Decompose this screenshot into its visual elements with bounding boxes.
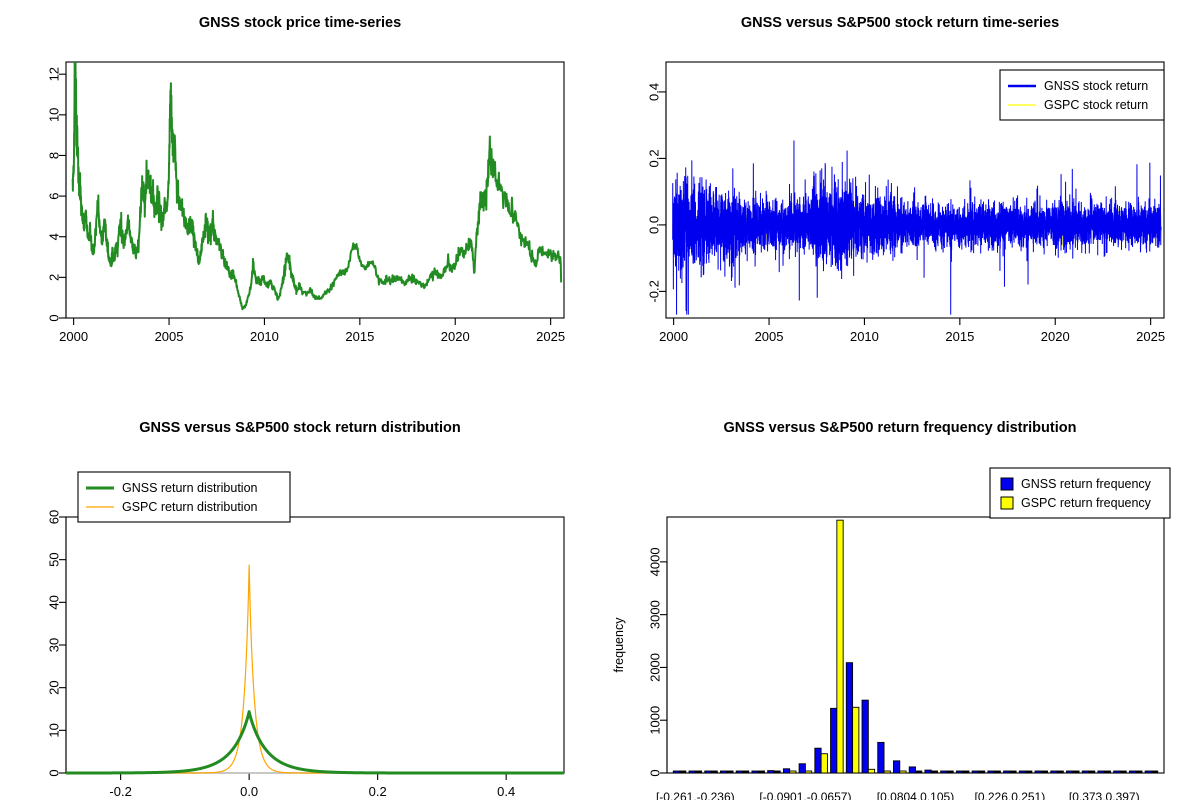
bar-gspc xyxy=(916,771,922,773)
bar-gnss xyxy=(1066,771,1072,773)
plot-box xyxy=(66,517,564,773)
y-tick-label: 0 xyxy=(648,769,663,776)
bar-gspc xyxy=(821,754,827,773)
plot-area-p1: 024681012200020052010201520202025 xyxy=(47,62,566,344)
bar-gspc xyxy=(1104,771,1110,773)
bar-gnss xyxy=(1004,771,1010,773)
x-tick-label: 2015 xyxy=(945,329,974,344)
y-tick-label: 4 xyxy=(47,233,62,240)
legend-box xyxy=(78,472,290,522)
chart-return-timeseries: GNSS versus S&P500 stock return time-ser… xyxy=(600,0,1200,400)
x-tick-label: 2025 xyxy=(536,329,565,344)
x-tick-label: 2010 xyxy=(850,329,879,344)
bar-gnss xyxy=(862,700,868,773)
chart-return-frequency: GNSS versus S&P500 return frequency dist… xyxy=(600,400,1200,800)
bar-gnss xyxy=(799,764,805,773)
legend-box xyxy=(990,468,1170,518)
y-tick-label: 0.0 xyxy=(647,216,662,234)
series-gnss-density xyxy=(66,712,564,773)
bar-gspc xyxy=(711,771,717,773)
bar-gnss xyxy=(972,771,978,773)
bar-gspc xyxy=(1073,771,1079,773)
y-tick-label: -0.2 xyxy=(647,280,662,302)
bar-gnss xyxy=(1051,771,1057,773)
bar-gspc xyxy=(900,771,906,773)
x-tick-label: 2020 xyxy=(441,329,470,344)
bar-gspc xyxy=(774,771,780,773)
bar-gspc xyxy=(853,707,859,773)
bar-gspc xyxy=(680,771,686,773)
bar-gnss xyxy=(893,761,899,773)
bar-gspc xyxy=(868,769,874,773)
y-tick-label: 1000 xyxy=(648,706,663,735)
y-tick-label: 0 xyxy=(47,314,62,321)
x-tick-label: 2010 xyxy=(250,329,279,344)
legend-swatch xyxy=(1001,478,1013,490)
x-tick-label: 2005 xyxy=(755,329,784,344)
y-tick-label: 20 xyxy=(47,680,62,694)
bar-gspc xyxy=(931,771,937,773)
bar-gspc xyxy=(963,771,969,773)
y-tick-label: 10 xyxy=(47,723,62,737)
plot-area-p2: -0.20.00.20.4200020052010201520202025GNS… xyxy=(647,62,1166,344)
panel-gnss-price-timeseries: GNSS stock price time-series 02468101220… xyxy=(0,0,600,400)
legend-label: GNSS stock return xyxy=(1044,79,1148,93)
bar-gnss xyxy=(815,748,821,773)
bar-gspc xyxy=(727,771,733,773)
bar-gspc xyxy=(1041,771,1047,773)
legend-label: GNSS return distribution xyxy=(122,481,258,495)
bar-gnss xyxy=(1082,771,1088,773)
figure-grid: GNSS stock price time-series 02468101220… xyxy=(0,0,1200,800)
y-tick-label: 2 xyxy=(47,274,62,281)
bar-gnss xyxy=(752,771,758,773)
chart-return-distribution: GNSS versus S&P500 stock return distribu… xyxy=(0,400,600,800)
plot-area-p3: 0102030405060-0.20.00.20.4GNSS return di… xyxy=(47,472,565,799)
x-tick-label: -0.2 xyxy=(109,784,131,799)
bar-gspc xyxy=(1136,771,1142,773)
bar-gnss xyxy=(689,771,695,773)
bar-gnss xyxy=(846,663,852,773)
y-tick-label: 10 xyxy=(47,108,62,122)
x-tick-label: 2025 xyxy=(1136,329,1165,344)
x-bin-label: [0.226,0.251) xyxy=(975,790,1046,800)
x-tick-label: 0.2 xyxy=(369,784,387,799)
bar-gnss xyxy=(941,771,947,773)
series-gnss-price xyxy=(73,63,561,309)
y-tick-label: 0 xyxy=(47,769,62,776)
bar-gspc xyxy=(994,771,1000,773)
x-tick-label: 2000 xyxy=(59,329,88,344)
bar-gnss xyxy=(783,769,789,773)
bar-gspc xyxy=(884,771,890,773)
bar-gspc xyxy=(978,771,984,773)
x-bin-label: [0.373,0.397) xyxy=(1069,790,1140,800)
y-tick-label: 4000 xyxy=(648,547,663,576)
bar-gnss xyxy=(878,742,884,773)
bar-gnss xyxy=(1145,771,1151,773)
panel-return-frequency: GNSS versus S&P500 return frequency dist… xyxy=(600,400,1200,800)
y-tick-label: 8 xyxy=(47,152,62,159)
y-tick-label: 12 xyxy=(47,67,62,81)
bar-gspc xyxy=(1151,771,1157,773)
panel-title: GNSS versus S&P500 return frequency dist… xyxy=(724,420,1077,436)
bar-gnss xyxy=(1129,771,1135,773)
bar-gnss xyxy=(909,767,915,773)
y-tick-label: 50 xyxy=(47,552,62,566)
bar-gspc xyxy=(1057,771,1063,773)
bar-gspc xyxy=(695,771,701,773)
x-tick-label: 0.0 xyxy=(240,784,258,799)
bar-gnss xyxy=(720,771,726,773)
bar-gnss xyxy=(956,771,962,773)
y-tick-label: 6 xyxy=(47,192,62,199)
bar-gnss xyxy=(673,771,679,773)
bar-gspc xyxy=(1089,771,1095,773)
bar-gnss xyxy=(768,771,774,773)
bar-gspc xyxy=(758,771,764,773)
legend-label: GNSS return frequency xyxy=(1021,477,1152,491)
bar-gspc xyxy=(1026,771,1032,773)
bar-gspc xyxy=(1120,771,1126,773)
bar-gspc xyxy=(742,771,748,773)
bar-gnss xyxy=(831,708,837,773)
x-tick-label: 2015 xyxy=(345,329,374,344)
bar-gnss xyxy=(925,770,931,773)
y-tick-label: 0.2 xyxy=(647,149,662,167)
y-tick-label: 60 xyxy=(47,510,62,524)
y-tick-label: 40 xyxy=(47,595,62,609)
x-bin-label: [-0.0901,-0.0657) xyxy=(759,790,851,800)
x-tick-label: 2005 xyxy=(155,329,184,344)
y-tick-label: 3000 xyxy=(648,600,663,629)
bar-gspc xyxy=(947,771,953,773)
bar-gnss xyxy=(1098,771,1104,773)
y-axis-title: frequency xyxy=(612,617,626,673)
legend-label: GSPC stock return xyxy=(1044,98,1148,112)
panel-return-distribution: GNSS versus S&P500 stock return distribu… xyxy=(0,400,600,800)
legend-label: GSPC return distribution xyxy=(122,500,258,514)
bar-gnss xyxy=(1114,771,1120,773)
bar-gspc xyxy=(837,520,843,773)
x-bin-label: [0.0804,0.105) xyxy=(877,790,954,800)
bar-gspc xyxy=(790,771,796,773)
panel-return-timeseries: GNSS versus S&P500 stock return time-ser… xyxy=(600,0,1200,400)
panel-title: GNSS versus S&P500 stock return distribu… xyxy=(139,420,461,436)
series-gspc-density xyxy=(66,565,564,773)
series-gnss-return xyxy=(673,140,1161,314)
bar-gnss xyxy=(988,771,994,773)
panel-title: GNSS versus S&P500 stock return time-ser… xyxy=(741,15,1059,31)
bar-gnss xyxy=(705,771,711,773)
legend-swatch xyxy=(1001,497,1013,509)
y-tick-label: 2000 xyxy=(648,653,663,682)
bar-gnss xyxy=(736,771,742,773)
bar-gnss xyxy=(1035,771,1041,773)
y-tick-label: 30 xyxy=(47,638,62,652)
bar-gspc xyxy=(1010,771,1016,773)
legend-label: GSPC return frequency xyxy=(1021,496,1152,510)
legend-box xyxy=(1000,70,1164,120)
panel-title: GNSS stock price time-series xyxy=(199,15,401,31)
x-tick-label: 2000 xyxy=(659,329,688,344)
x-bin-label: [-0.261,-0.236) xyxy=(656,790,735,800)
bar-gnss xyxy=(1019,771,1025,773)
x-tick-label: 2020 xyxy=(1041,329,1070,344)
plot-box xyxy=(667,517,1164,773)
x-tick-label: 0.4 xyxy=(497,784,515,799)
y-tick-label: 0.4 xyxy=(647,83,662,101)
plot-area-p4: 01000200030004000[-0.261,-0.236)[-0.0901… xyxy=(612,468,1170,800)
chart-gnss-price-timeseries: GNSS stock price time-series 02468101220… xyxy=(0,0,600,400)
bar-gspc xyxy=(805,771,811,773)
